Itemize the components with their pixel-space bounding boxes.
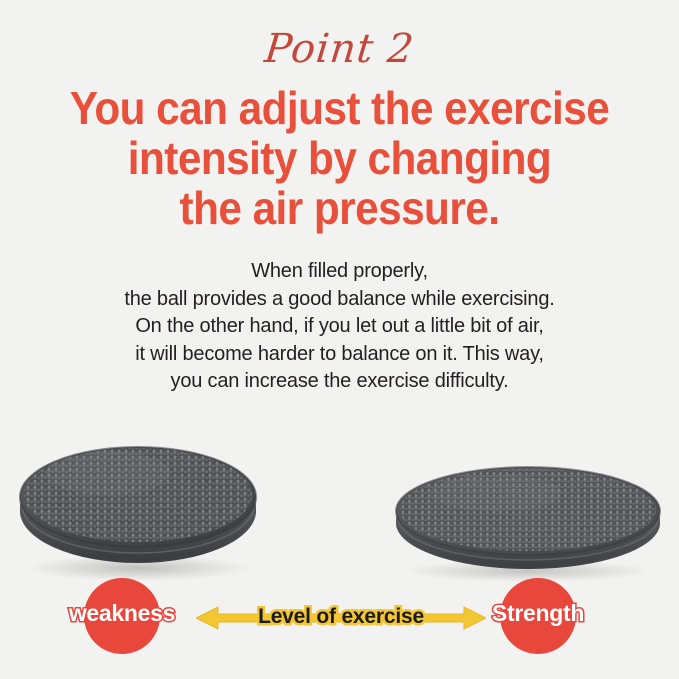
body-line-5: you can increase the exercise difficulty…	[0, 368, 679, 396]
page-title: You can adjust the exercise intensity by…	[27, 83, 652, 233]
infographic-page: Point 2 You can adjust the exercise inte…	[0, 0, 679, 679]
eyebrow-point-label: Point 2	[0, 26, 679, 72]
headline-line-1: You can adjust the exercise	[27, 83, 652, 133]
headline-line-3: the air pressure.	[27, 183, 652, 233]
body-line-4: it will become harder to balance on it. …	[0, 341, 679, 369]
body-line-3: On the other hand, if you let out a litt…	[0, 313, 679, 341]
weakness-label: weakness	[22, 600, 222, 627]
balance-cushion-right-image	[388, 455, 664, 583]
strength-label: Strength	[438, 600, 638, 627]
body-line-1: When filled properly,	[0, 258, 679, 286]
body-line-2: the ball provides a good balance while e…	[0, 286, 679, 314]
body-paragraph: When filled properly, the ball provides …	[0, 258, 679, 396]
headline-line-2: intensity by changing	[27, 133, 652, 183]
balance-cushion-left-image	[12, 425, 262, 580]
exercise-level-scale: Level of exercise weakness Strength	[0, 578, 679, 658]
